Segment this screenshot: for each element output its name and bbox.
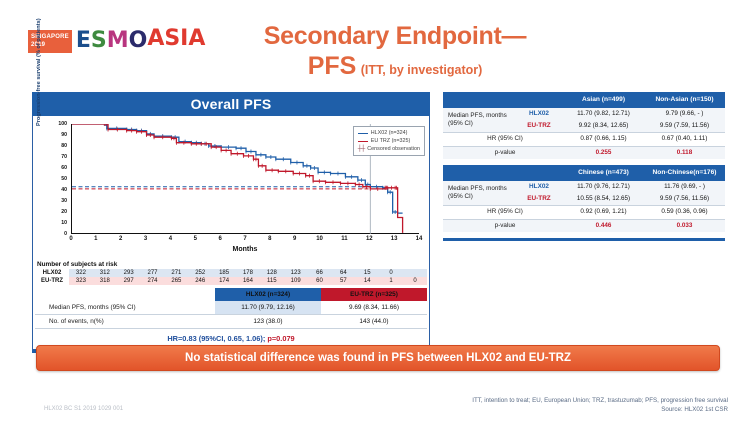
risk-row-label: EU-TRZ <box>35 277 69 285</box>
risk-cell <box>403 269 427 277</box>
legend-line-icon <box>358 133 368 134</box>
risk-cell: 15 <box>355 269 379 277</box>
legend-item-hlx02: HLX02 (n=324) <box>358 129 420 137</box>
x-tick-label: 14 <box>416 236 423 242</box>
header-blank <box>443 92 515 108</box>
x-axis-label: Months <box>71 246 419 253</box>
legend-label: Censored observation <box>367 145 420 153</box>
risk-cell: 109 <box>284 277 308 285</box>
risk-cell: 252 <box>188 269 212 277</box>
asian-subgroup-table: Asian (n=499) Non-Asian (n=150) Median P… <box>443 92 725 159</box>
right-panel-bottom-rule <box>443 238 725 241</box>
chart-legend: HLX02 (n=324) EU TRZ (n=325) ┼┼ Censored… <box>353 126 425 156</box>
esmo-letter-s: S <box>91 30 107 52</box>
risk-cell: 312 <box>93 269 117 277</box>
risk-cell: 57 <box>331 277 355 285</box>
arm-label-hlx02: HLX02 <box>515 181 563 193</box>
summary-row: Median PFS, months (95% CI)11.70 (9.79, … <box>35 301 427 315</box>
y-tick-label: 50 <box>49 176 67 182</box>
panel-header: Overall PFS <box>32 92 430 116</box>
table-header-row: Chinese (n=473) Non-Chinese(n=176) <box>443 165 725 181</box>
legend-item-censored: ┼┼ Censored observation <box>358 145 420 153</box>
summary-header-eutrz: EU-TRZ (n=325) <box>321 288 427 301</box>
table-row: Median PFS, months (95% CI) HLX02 11.70 … <box>443 181 725 193</box>
x-tick-label: 8 <box>268 236 271 242</box>
risk-cell: 318 <box>93 277 117 285</box>
legend-item-eutrz: EU TRZ (n=325) <box>358 137 420 145</box>
km-chart-container: Progression-free survival (% of patients… <box>32 116 430 350</box>
esmo-letter-m: M <box>107 30 129 52</box>
y-tick-label: 80 <box>49 143 67 149</box>
risk-cell: 123 <box>284 269 308 277</box>
censor-tick-icon: ┼┼ <box>358 145 365 153</box>
risk-table-title: Number of subjects at risk <box>35 260 427 269</box>
summary-row-label: Median PFS, months (95% CI) <box>35 301 215 315</box>
summary-value-hlx02: 11.70 (9.79, 12.16) <box>215 301 321 315</box>
abbreviation-note: ITT, intention to treat; EU, European Un… <box>472 396 728 405</box>
number-at-risk-table: HLX0232231229327727125218517812812366641… <box>35 269 427 285</box>
risk-cell: 64 <box>331 269 355 277</box>
title-subtitle: (ITT, by investigator) <box>361 63 483 77</box>
row-label-median-pfs: Median PFS, months (95% CI) <box>443 181 515 206</box>
value-hlx02-chinese: 11.70 (9.76, 12.71) <box>563 181 644 193</box>
risk-cell: 0 <box>379 269 403 277</box>
header-asian: Asian (n=499) <box>563 92 644 108</box>
value-eutrz-chinese: 10.55 (8.54, 12.65) <box>563 193 644 206</box>
x-tick-label: 1 <box>94 236 97 242</box>
x-tick-label: 2 <box>119 236 122 242</box>
pvalue-asian: 0.255 <box>563 146 644 159</box>
row-label-median-pfs: Median PFS, months (95% CI) <box>443 108 515 133</box>
arm-label-eutrz: EU-TRZ <box>515 193 563 206</box>
value-hlx02-asian: 11.70 (9.82, 12.71) <box>563 108 644 120</box>
x-tick-label: 7 <box>243 236 246 242</box>
row-label-hr: HR (95% CI) <box>443 206 563 220</box>
risk-cell: 60 <box>308 277 332 285</box>
risk-cell: 128 <box>260 269 284 277</box>
hr-pvalue: p=0.079 <box>267 334 294 343</box>
risk-cell: 178 <box>236 269 260 277</box>
table-row: Median PFS, months (95% CI) HLX02 11.70 … <box>443 108 725 120</box>
esmo-letter-o: O <box>129 30 148 52</box>
y-tick-label: 60 <box>49 165 67 171</box>
km-plot-area: Progression-free survival (% of patients… <box>35 120 427 260</box>
legend-line-icon <box>358 141 368 142</box>
risk-cell: 271 <box>164 269 188 277</box>
risk-cell: 293 <box>117 269 141 277</box>
risk-cell: 0 <box>403 277 427 285</box>
table-row-pvalue: p-value 0.446 0.033 <box>443 219 725 232</box>
row-label-pvalue: p-value <box>443 146 563 159</box>
chinese-subgroup-table: Chinese (n=473) Non-Chinese(n=176) Media… <box>443 165 725 232</box>
table-row-pvalue: p-value 0.255 0.118 <box>443 146 725 159</box>
risk-row: EU-TRZ3233182972742652461741641151096057… <box>35 277 427 285</box>
x-tick-label: 0 <box>69 236 72 242</box>
summary-value-hlx02: 123 (38.0) <box>215 315 321 329</box>
pvalue-nonasian: 0.118 <box>644 146 725 159</box>
x-tick-label: 11 <box>341 236 347 242</box>
x-tick-label: 12 <box>366 236 373 242</box>
x-tick-label: 10 <box>316 236 323 242</box>
x-tick-label: 6 <box>218 236 221 242</box>
value-eutrz-nonchinese: 9.59 (7.56, 11.56) <box>644 193 725 206</box>
value-eutrz-asian: 9.92 (8.34, 12.65) <box>563 120 644 133</box>
risk-cell: 246 <box>188 277 212 285</box>
pvalue-chinese: 0.446 <box>563 219 644 232</box>
esmo-letter-e: E <box>76 30 91 52</box>
hr-nonasian: 0.67 (0.40, 1.11) <box>644 133 725 147</box>
source-note: Source: HLX02 1st CSR <box>472 405 728 414</box>
value-hlx02-nonchinese: 11.76 (9.69, - ) <box>644 181 725 193</box>
value-eutrz-nonasian: 9.59 (7.59, 11.56) <box>644 120 725 133</box>
table-row-hr: HR (95% CI) 0.87 (0.66, 1.15) 0.67 (0.40… <box>443 133 725 147</box>
title-line-1: Secondary Endpoint— <box>160 22 630 50</box>
x-tick-label: 4 <box>169 236 172 242</box>
y-tick-label: 70 <box>49 154 67 160</box>
hr-nonchinese: 0.59 (0.36, 0.96) <box>644 206 725 220</box>
value-hlx02-nonasian: 9.79 (9.66, - ) <box>644 108 725 120</box>
hr-text: HR=0.83 (95%CI, 0.65, 1.06); <box>167 334 267 343</box>
hr-asian: 0.87 (0.66, 1.15) <box>563 133 644 147</box>
risk-row-label: HLX02 <box>35 269 69 277</box>
risk-cell: 274 <box>141 277 165 285</box>
title-pfs: PFS <box>308 52 357 80</box>
y-tick-label: 20 <box>49 209 67 215</box>
header-non-asian: Non-Asian (n=150) <box>644 92 725 108</box>
header-blank <box>443 165 515 181</box>
risk-cell: 265 <box>164 277 188 285</box>
x-tick-label: 13 <box>391 236 398 242</box>
legend-label: HLX02 (n=324) <box>371 129 408 137</box>
y-tick-label: 30 <box>49 198 67 204</box>
y-tick-label: 40 <box>49 187 67 193</box>
subgroup-tables-panel: Asian (n=499) Non-Asian (n=150) Median P… <box>443 92 725 241</box>
risk-cell: 115 <box>260 277 284 285</box>
pvalue-nonchinese: 0.033 <box>644 219 725 232</box>
y-tick-label: 0 <box>49 231 67 237</box>
header-non-chinese: Non-Chinese(n=176) <box>644 165 725 181</box>
summary-table: HLX02 (n=324)EU-TRZ (n=325)Median PFS, m… <box>35 288 427 329</box>
hr-chinese: 0.92 (0.69, 1.21) <box>563 206 644 220</box>
summary-value-eutrz: 9.69 (8.34, 11.66) <box>321 301 427 315</box>
risk-cell: 14 <box>355 277 379 285</box>
row-label-pvalue: p-value <box>443 219 563 232</box>
y-tick-label: 90 <box>49 132 67 138</box>
arm-label-eutrz: EU-TRZ <box>515 120 563 133</box>
summary-header-hlx02: HLX02 (n=324) <box>215 288 321 301</box>
slide-title: Secondary Endpoint— PFS (ITT, by investi… <box>160 22 630 81</box>
risk-cell: 322 <box>69 269 93 277</box>
y-tick-label: 10 <box>49 220 67 226</box>
risk-cell: 323 <box>69 277 93 285</box>
x-tick-label: 9 <box>293 236 296 242</box>
overall-pfs-panel: Overall PFS Progression-free survival (%… <box>32 92 430 353</box>
slide-id: HLX02 BC S1 2019 1029 001 <box>44 406 123 412</box>
summary-header-row: HLX02 (n=324)EU-TRZ (n=325) <box>35 288 427 301</box>
summary-value-eutrz: 143 (44.0) <box>321 315 427 329</box>
summary-row: No. of events, n(%)123 (38.0)143 (44.0) <box>35 315 427 329</box>
footnotes: ITT, intention to treat; EU, European Un… <box>472 396 728 414</box>
header-arm-blank <box>515 165 563 181</box>
risk-cell: 185 <box>212 269 236 277</box>
risk-cell: 297 <box>117 277 141 285</box>
risk-cell: 66 <box>308 269 332 277</box>
arm-label-hlx02: HLX02 <box>515 108 563 120</box>
row-label-hr: HR (95% CI) <box>443 133 563 147</box>
legend-label: EU TRZ (n=325) <box>371 137 411 145</box>
table-header-row: Asian (n=499) Non-Asian (n=150) <box>443 92 725 108</box>
summary-row-label: No. of events, n(%) <box>35 315 215 329</box>
risk-cell: 1 <box>379 277 403 285</box>
risk-row: HLX0232231229327727125218517812812366641… <box>35 269 427 277</box>
y-tick-label: 100 <box>49 121 67 127</box>
header-arm-blank <box>515 92 563 108</box>
risk-cell: 174 <box>212 277 236 285</box>
y-axis-label: Progression-free survival (% of patients… <box>36 36 50 126</box>
header-chinese: Chinese (n=473) <box>563 165 644 181</box>
table-row-hr: HR (95% CI) 0.92 (0.69, 1.21) 0.59 (0.36… <box>443 206 725 220</box>
conclusion-banner: No statistical difference was found in P… <box>36 345 720 371</box>
risk-cell: 164 <box>236 277 260 285</box>
x-tick-label: 3 <box>144 236 147 242</box>
risk-cell: 277 <box>141 269 165 277</box>
x-tick-label: 5 <box>194 236 197 242</box>
